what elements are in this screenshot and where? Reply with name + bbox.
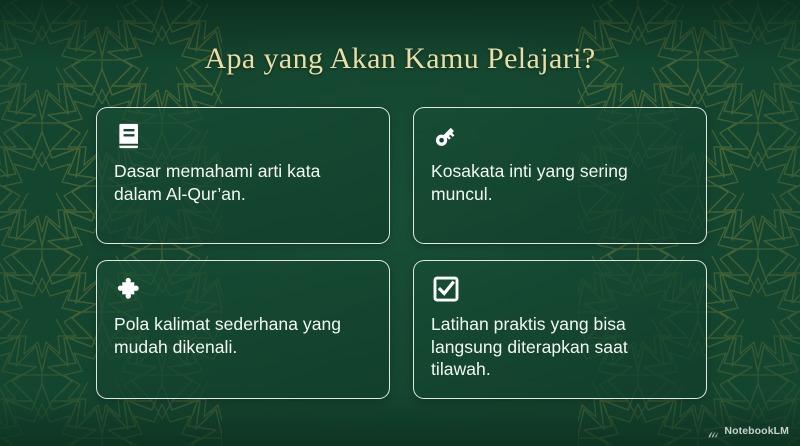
page-title: Apa yang Akan Kamu Pelajari?: [0, 42, 800, 76]
learning-card-book[interactable]: Dasar memahami arti kata dalam Al-Qur’an…: [96, 107, 390, 244]
notebooklm-logo-icon: [707, 426, 720, 437]
puzzle-piece-icon: [114, 274, 144, 304]
slide-canvas: Apa yang Akan Kamu Pelajari? Dasar memah…: [0, 0, 800, 446]
notebooklm-watermark-label: NotebookLM: [724, 425, 789, 437]
learning-points-grid: Dasar memahami arti kata dalam Al-Qur’an…: [96, 107, 707, 399]
book-icon: [114, 121, 144, 151]
learning-card-key[interactable]: Kosakata inti yang sering muncul.: [413, 107, 707, 244]
learning-card-text: Dasar memahami arti kata dalam Al-Qur’an…: [114, 160, 373, 205]
learning-card-text: Pola kalimat sederhana yang mudah dikena…: [114, 313, 373, 358]
learning-card-puzzle[interactable]: Pola kalimat sederhana yang mudah dikena…: [96, 260, 390, 399]
learning-card-checkbox[interactable]: Latihan praktis yang bisa langsung diter…: [413, 260, 707, 399]
key-icon: [431, 121, 461, 151]
notebooklm-watermark: NotebookLM: [707, 425, 789, 437]
learning-card-text: Latihan praktis yang bisa langsung diter…: [431, 313, 690, 381]
learning-card-text: Kosakata inti yang sering muncul.: [431, 160, 690, 205]
checkbox-checked-icon: [431, 274, 461, 304]
